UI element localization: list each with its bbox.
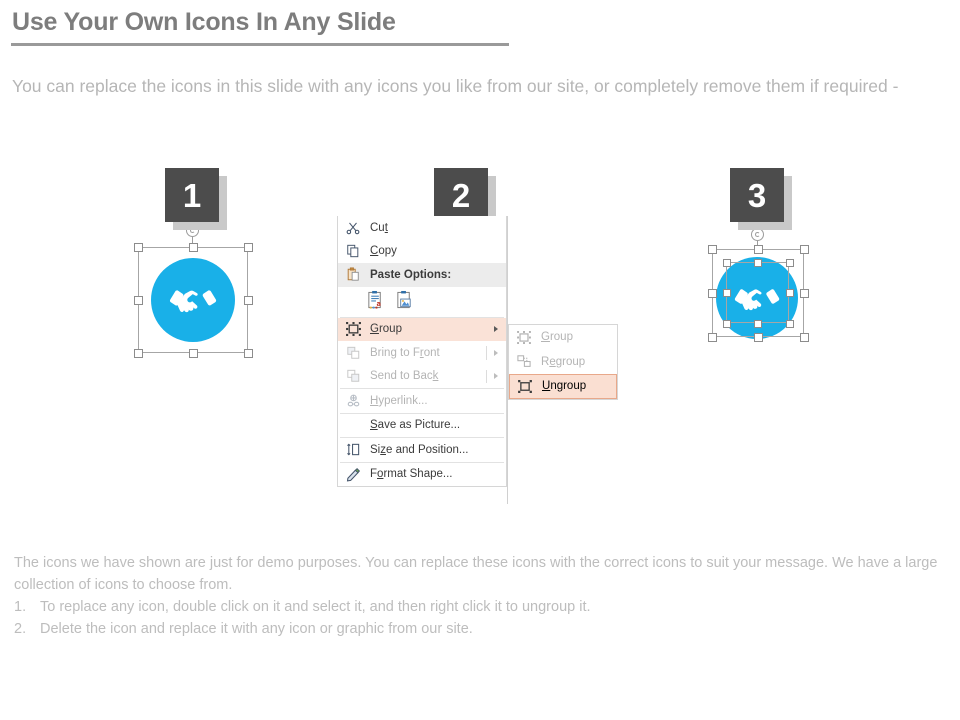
handle-sw[interactable] [723,320,731,328]
page-subtitle: You can replace the icons in this slide … [12,72,954,100]
submenu-item-group[interactable]: Group [509,325,617,350]
group-icon [342,319,364,339]
handle-sw[interactable] [134,349,143,358]
handle-e[interactable] [244,296,253,305]
submenu-divider [486,370,487,384]
menu-item-label: Size and Position... [364,444,468,456]
menu-item-cut[interactable]: Cut [338,216,506,240]
ungroup-icon [514,376,536,396]
title-underline [11,43,509,46]
handle-w[interactable] [723,289,731,297]
menu-item-label: Hyperlink... [364,395,428,407]
menu-item-label: Format Shape... [364,468,452,480]
menu-item-paste-options[interactable]: Paste Options: [338,263,506,287]
format-shape-icon [342,464,364,484]
footer-notes: The icons we have shown are just for dem… [14,552,944,640]
list-item: 2. Delete the icon and replace it with a… [14,618,944,640]
menu-item-bring-to-front[interactable]: Bring to Front [338,341,506,365]
handle-s[interactable] [754,333,763,342]
menu-item-group[interactable]: Group [338,318,506,342]
step-2-badge: 2 [434,168,488,222]
regroup-icon [513,352,535,372]
submenu-item-regroup[interactable]: Regroup [509,350,617,375]
submenu-divider [486,346,487,360]
handle-se[interactable] [244,349,253,358]
menu-item-send-to-back[interactable]: Send to Back [338,365,506,389]
group-icon [513,327,535,347]
menu-item-size-and-position[interactable]: Size and Position... [338,438,506,462]
handle-nw[interactable] [708,245,717,254]
group-submenu[interactable]: Group Regroup Ungroup [508,324,618,400]
paste-picture-icon[interactable] [395,290,414,313]
handle-n[interactable] [754,245,763,254]
menu-item-label: Save as Picture... [364,419,460,431]
list-text: Delete the icon and replace it with any … [40,618,473,640]
menu-item-hyperlink[interactable]: Hyperlink... [338,389,506,413]
paste-options-row[interactable]: a [338,287,506,317]
scissors-icon [342,218,364,238]
handle-nw[interactable] [134,243,143,252]
slide-canvas: Use Your Own Icons In Any Slide You can … [0,0,960,720]
step-number: 2 [434,168,488,222]
handle-s[interactable] [189,349,198,358]
menu-item-format-shape[interactable]: Format Shape... [338,463,506,487]
menu-item-label: Bring to Front [364,347,440,359]
list-item: 1. To replace any icon, double click on … [14,596,944,618]
handle-ne[interactable] [244,243,253,252]
handle-ne[interactable] [800,245,809,254]
handle-nw[interactable] [723,259,731,267]
menu-item-copy[interactable]: Copy [338,240,506,264]
copy-icon [342,241,364,261]
paste-use-destination-theme-icon[interactable]: a [366,290,385,313]
handle-n[interactable] [189,243,198,252]
step-1-badge: 1 [165,168,219,222]
hyperlink-icon [342,391,364,411]
clipboard-icon [342,265,364,285]
handle-se[interactable] [786,320,794,328]
handle-n[interactable] [754,259,762,267]
context-menu[interactable]: Cut Copy Paste Options: [337,216,507,487]
handle-e[interactable] [800,289,809,298]
menu-item-save-as-picture[interactable]: Save as Picture... [338,414,506,438]
size-position-icon [342,440,364,460]
step-number: 3 [730,168,784,222]
handle-w[interactable] [708,289,717,298]
chevron-right-icon [494,326,498,332]
send-back-icon [342,366,364,386]
bring-front-icon [342,343,364,363]
step-3-badge: 3 [730,168,784,222]
menu-item-label: Paste Options: [364,269,451,281]
step-number: 1 [165,168,219,222]
selection-box-inner[interactable] [726,262,789,323]
footer-list: 1. To replace any icon, double click on … [14,596,944,640]
menu-item-label: Copy [364,245,397,257]
menu-item-label: Group [364,323,402,335]
menu-item-label: Send to Back [364,370,438,382]
handle-ne[interactable] [786,259,794,267]
handle-w[interactable] [134,296,143,305]
list-number: 1. [14,596,40,618]
handle-s[interactable] [754,320,762,328]
chevron-right-icon [494,373,498,379]
list-number: 2. [14,618,40,640]
handle-se[interactable] [800,333,809,342]
submenu-item-label: Ungroup [536,380,586,392]
menu-item-label: Cut [364,222,388,234]
submenu-item-ungroup[interactable]: Ungroup [509,374,617,399]
handle-sw[interactable] [708,333,717,342]
empty-icon-slot [342,415,364,435]
footer-paragraph: The icons we have shown are just for dem… [14,552,944,596]
submenu-item-label: Group [535,331,573,343]
list-text: To replace any icon, double click on it … [40,596,591,618]
handshake-icon[interactable] [151,258,235,342]
chevron-right-icon [494,350,498,356]
page-title: Use Your Own Icons In Any Slide [12,8,396,37]
submenu-item-label: Regroup [535,356,585,368]
handle-e[interactable] [786,289,794,297]
